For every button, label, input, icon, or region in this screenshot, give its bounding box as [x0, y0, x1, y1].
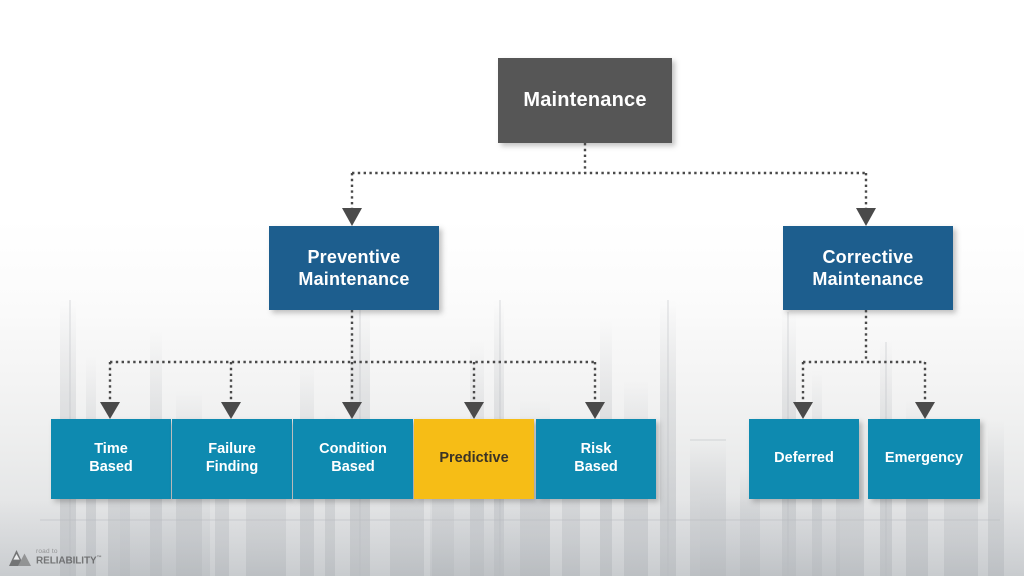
arrowhead-pm-3: [342, 402, 362, 419]
node-maintenance-label: Maintenance: [523, 88, 646, 113]
brand-logo[interactable]: road to RELIABILITY™: [9, 548, 101, 567]
node-failure-finding[interactable]: Failure Finding: [172, 419, 292, 499]
arrowhead-pm-4: [464, 402, 484, 419]
arrowhead-corrective: [856, 208, 876, 226]
node-corrective-maintenance-label: Corrective Maintenance: [812, 246, 923, 291]
arrowhead-pm-1: [100, 402, 120, 419]
node-deferred[interactable]: Deferred: [749, 419, 859, 499]
arrowhead-cm-2: [915, 402, 935, 419]
node-maintenance[interactable]: Maintenance: [498, 58, 672, 143]
node-deferred-label: Deferred: [774, 450, 834, 468]
node-predictive[interactable]: Predictive: [414, 419, 534, 499]
node-emergency-label: Emergency: [885, 450, 963, 468]
logo-trademark: ™: [97, 555, 102, 561]
mountain-triangle-icon: [9, 548, 31, 567]
logo-reliability-text: RELIABILITY: [36, 555, 97, 566]
node-time-based[interactable]: Time Based: [51, 419, 171, 499]
node-risk-based[interactable]: Risk Based: [536, 419, 656, 499]
node-preventive-maintenance[interactable]: Preventive Maintenance: [269, 226, 439, 310]
node-preventive-maintenance-label: Preventive Maintenance: [298, 246, 409, 291]
node-condition-based[interactable]: Condition Based: [293, 419, 413, 499]
node-emergency[interactable]: Emergency: [868, 419, 980, 499]
node-corrective-maintenance[interactable]: Corrective Maintenance: [783, 226, 953, 310]
arrowhead-pm-5: [585, 402, 605, 419]
logo-line-reliability: RELIABILITY™: [36, 556, 101, 566]
node-predictive-label: Predictive: [439, 450, 508, 468]
logo-wordmark: road to RELIABILITY™: [36, 549, 101, 567]
node-failure-finding-label: Failure Finding: [206, 441, 258, 477]
node-time-based-label: Time Based: [89, 441, 133, 477]
arrowhead-cm-1: [793, 402, 813, 419]
arrowhead-preventive: [342, 208, 362, 226]
arrowhead-pm-2: [221, 402, 241, 419]
node-condition-based-label: Condition Based: [319, 441, 387, 477]
node-risk-based-label: Risk Based: [574, 441, 618, 477]
